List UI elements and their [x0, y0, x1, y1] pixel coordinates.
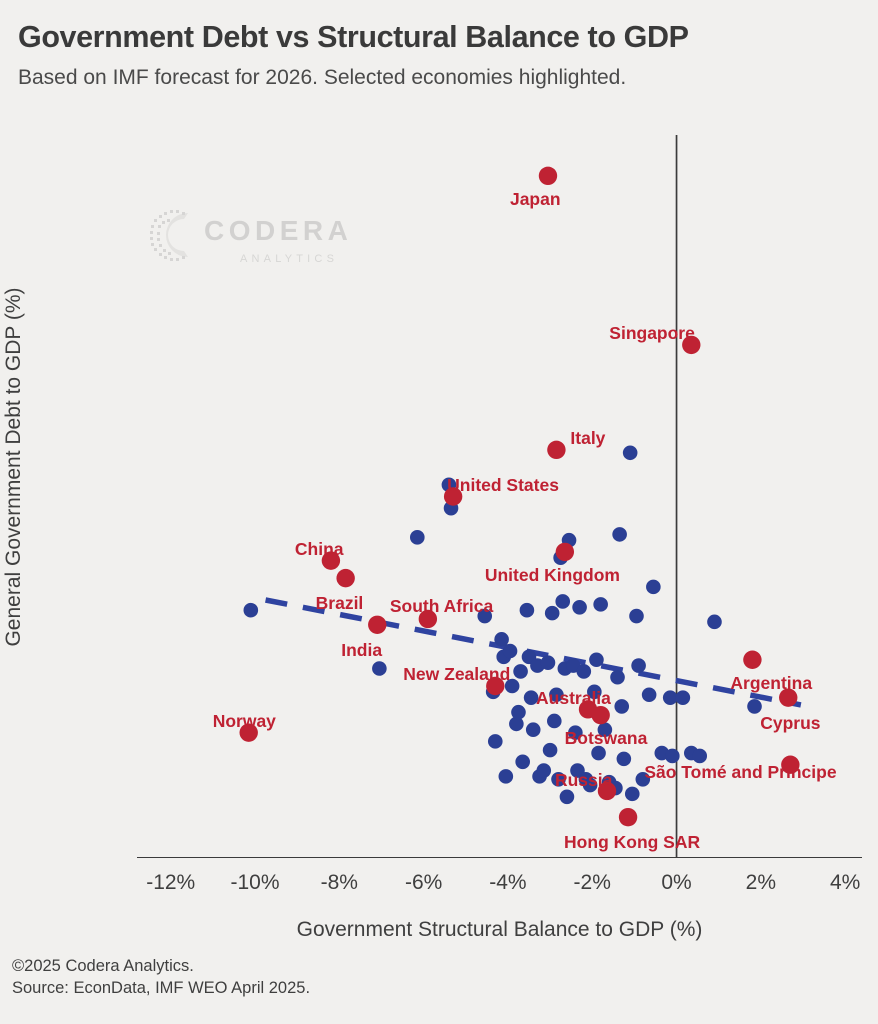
x-axis-title: Government Structural Balance to GDP (%) — [137, 918, 862, 942]
highlighted-data-point[interactable] — [322, 551, 340, 569]
data-point[interactable] — [477, 609, 492, 624]
data-point[interactable] — [593, 597, 608, 612]
data-point[interactable] — [692, 749, 707, 764]
plot-svg — [137, 135, 862, 858]
data-point[interactable] — [665, 749, 680, 764]
highlighted-data-point[interactable] — [486, 677, 504, 695]
scatter-plot-area: JapanSingaporeItalyUnited StatesUnited K… — [137, 135, 862, 858]
highlighted-data-point[interactable] — [547, 441, 565, 459]
data-point[interactable] — [629, 609, 644, 624]
data-point[interactable] — [515, 754, 530, 769]
x-axis-tick-label: -10% — [231, 871, 280, 895]
data-point[interactable] — [410, 530, 425, 545]
data-point[interactable] — [676, 690, 691, 705]
highlighted-data-point[interactable] — [591, 706, 609, 724]
data-point[interactable] — [707, 615, 722, 630]
data-point[interactable] — [636, 772, 651, 787]
highlighted-data-point[interactable] — [556, 543, 574, 561]
data-point[interactable] — [583, 778, 598, 793]
data-point[interactable] — [505, 679, 520, 694]
data-point[interactable] — [511, 705, 526, 720]
data-point[interactable] — [549, 687, 564, 702]
footer-source: Source: EconData, IMF WEO April 2025. — [12, 977, 310, 999]
data-point[interactable] — [642, 687, 657, 702]
data-point[interactable] — [631, 658, 646, 673]
data-point[interactable] — [589, 652, 604, 667]
x-axis-tick-label: 0% — [661, 871, 691, 895]
data-point[interactable] — [488, 734, 503, 749]
x-axis-tick-label: -12% — [146, 871, 195, 895]
highlighted-data-point[interactable] — [743, 651, 761, 669]
page-title: Government Debt vs Structural Balance to… — [18, 20, 689, 55]
highlighted-data-point[interactable] — [682, 336, 700, 354]
data-point[interactable] — [499, 769, 514, 784]
data-point[interactable] — [747, 699, 762, 714]
x-axis-tick-label: 2% — [746, 871, 776, 895]
data-point[interactable] — [555, 594, 570, 609]
footer-copyright: ©2025 Codera Analytics. — [12, 955, 310, 977]
data-point[interactable] — [526, 722, 541, 737]
data-point[interactable] — [541, 655, 556, 670]
highlighted-data-point[interactable] — [444, 487, 462, 505]
data-point[interactable] — [623, 445, 638, 460]
x-axis-tick-label: -8% — [321, 871, 358, 895]
data-point[interactable] — [610, 670, 625, 685]
data-point[interactable] — [617, 752, 632, 767]
data-point[interactable] — [503, 644, 518, 659]
data-point[interactable] — [572, 600, 587, 615]
data-point[interactable] — [587, 685, 602, 700]
data-point[interactable] — [372, 661, 387, 676]
highlighted-data-point[interactable] — [598, 782, 616, 800]
x-axis-tick-label: 4% — [830, 871, 860, 895]
footer: ©2025 Codera Analytics. Source: EconData… — [12, 955, 310, 1000]
data-point[interactable] — [625, 787, 640, 802]
page-subtitle: Based on IMF forecast for 2026. Selected… — [18, 66, 626, 90]
highlighted-data-point[interactable] — [619, 808, 637, 826]
data-point[interactable] — [612, 527, 627, 542]
data-point[interactable] — [513, 664, 528, 679]
data-point[interactable] — [560, 789, 575, 804]
data-point[interactable] — [520, 603, 535, 618]
y-axis-title: General Government Debt to GDP (%) — [2, 167, 26, 767]
data-point[interactable] — [543, 743, 558, 758]
data-point[interactable] — [547, 714, 562, 729]
data-point[interactable] — [598, 722, 613, 737]
x-axis-tick-label: -6% — [405, 871, 442, 895]
data-point[interactable] — [244, 603, 259, 618]
data-point[interactable] — [536, 763, 551, 778]
x-axis-tick-label: -4% — [489, 871, 526, 895]
data-point[interactable] — [524, 690, 539, 705]
chart-root: Government Debt vs Structural Balance to… — [0, 0, 878, 1024]
highlighted-data-point[interactable] — [368, 616, 386, 634]
highlighted-data-point[interactable] — [240, 723, 258, 741]
data-point[interactable] — [614, 699, 629, 714]
data-point[interactable] — [663, 690, 678, 705]
data-point[interactable] — [646, 580, 661, 595]
highlighted-data-point[interactable] — [779, 688, 797, 706]
data-point[interactable] — [591, 746, 606, 761]
data-point[interactable] — [577, 664, 592, 679]
highlighted-data-point[interactable] — [419, 610, 437, 628]
highlighted-data-point[interactable] — [336, 569, 354, 587]
data-point[interactable] — [545, 606, 560, 621]
data-point[interactable] — [494, 632, 509, 647]
data-point[interactable] — [568, 725, 583, 740]
data-point[interactable] — [551, 772, 566, 787]
highlighted-data-point[interactable] — [539, 167, 557, 185]
x-axis-tick-label: -2% — [574, 871, 611, 895]
highlighted-data-point[interactable] — [781, 756, 799, 774]
